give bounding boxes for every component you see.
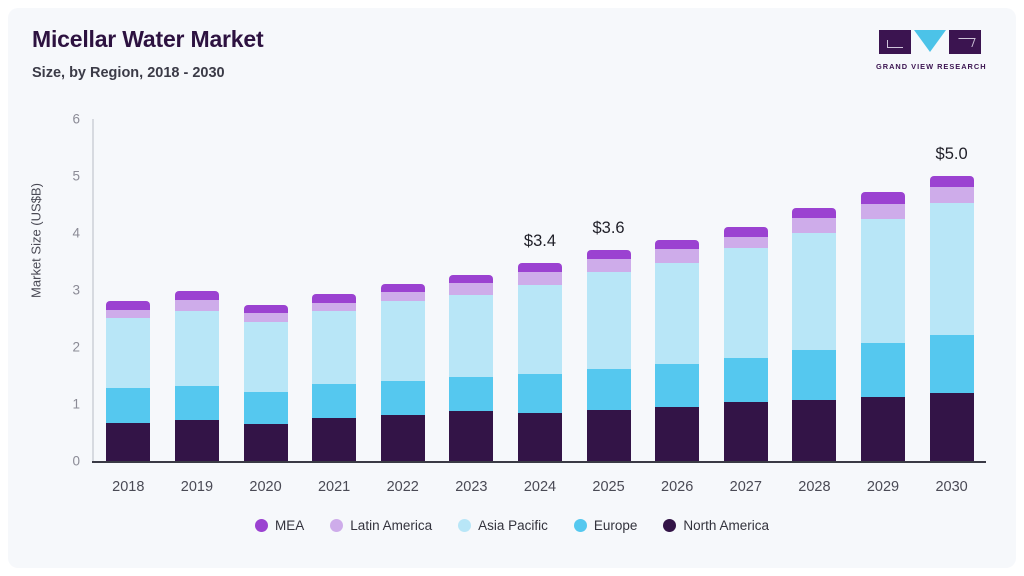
bar-segment-asia-pacific-2030[interactable] xyxy=(930,203,974,335)
y-axis-label: Market Size (US$B) xyxy=(29,91,44,391)
bar-segment-latin-america-2030[interactable] xyxy=(930,187,974,203)
bar-segment-asia-pacific-2029[interactable] xyxy=(861,219,905,343)
x-axis-tick-2018: 2018 xyxy=(112,479,144,495)
bar-segment-mea-2018[interactable] xyxy=(106,301,150,310)
chart-legend: MEALatin AmericaAsia PacificEuropeNorth … xyxy=(8,518,1016,533)
bar-segment-latin-america-2025[interactable] xyxy=(587,259,631,272)
legend-item-north-america[interactable]: North America xyxy=(663,518,769,533)
bar-segment-asia-pacific-2018[interactable] xyxy=(106,318,150,388)
bar-segment-mea-2024[interactable] xyxy=(518,263,562,272)
legend-item-asia-pacific[interactable]: Asia Pacific xyxy=(458,518,548,533)
bar-segment-latin-america-2021[interactable] xyxy=(312,303,356,311)
bar-segment-latin-america-2023[interactable] xyxy=(449,283,493,295)
bar-segment-north-america-2027[interactable] xyxy=(724,402,768,461)
bar-segment-latin-america-2020[interactable] xyxy=(244,313,288,322)
bar-segment-europe-2026[interactable] xyxy=(655,364,699,407)
stacked-bar-2018[interactable] xyxy=(106,301,150,461)
bar-segment-north-america-2028[interactable] xyxy=(792,400,836,461)
bar-segment-north-america-2020[interactable] xyxy=(244,424,288,461)
bar-segment-mea-2025[interactable] xyxy=(587,250,631,259)
bar-segment-mea-2023[interactable] xyxy=(449,275,493,283)
bar-segment-north-america-2019[interactable] xyxy=(175,420,219,461)
x-axis-tick-2024: 2024 xyxy=(524,479,556,495)
bar-segment-asia-pacific-2026[interactable] xyxy=(655,263,699,364)
bar-segment-asia-pacific-2021[interactable] xyxy=(312,311,356,384)
bar-slot-2024[interactable]: $3.42024 xyxy=(506,119,575,461)
y-axis-tick-0: 0 xyxy=(56,454,80,469)
legend-swatch-icon xyxy=(574,519,587,532)
bar-segment-europe-2029[interactable] xyxy=(861,343,905,397)
bar-segment-latin-america-2018[interactable] xyxy=(106,310,150,318)
x-axis-tick-2023: 2023 xyxy=(455,479,487,495)
bar-segment-mea-2027[interactable] xyxy=(724,227,768,237)
x-axis-line xyxy=(92,461,986,463)
bar-segment-europe-2030[interactable] xyxy=(930,335,974,393)
bar-segment-europe-2018[interactable] xyxy=(106,388,150,423)
chart-plot-area: Market Size (US$B) 6543210 2018201920202… xyxy=(8,8,1016,568)
bar-segment-asia-pacific-2022[interactable] xyxy=(381,301,425,381)
bar-segment-latin-america-2019[interactable] xyxy=(175,300,219,311)
legend-label: MEA xyxy=(275,518,304,533)
bar-segment-north-america-2018[interactable] xyxy=(106,423,150,461)
bar-segment-north-america-2029[interactable] xyxy=(861,397,905,461)
bar-segment-north-america-2023[interactable] xyxy=(449,411,493,461)
y-axis-tick-3: 3 xyxy=(56,283,80,298)
bar-segment-europe-2027[interactable] xyxy=(724,358,768,402)
legend-swatch-icon xyxy=(255,519,268,532)
legend-item-mea[interactable]: MEA xyxy=(255,518,304,533)
bar-slot-2029[interactable]: 2029 xyxy=(849,119,918,461)
y-axis-tick-1: 1 xyxy=(56,397,80,412)
stacked-bar-2026[interactable] xyxy=(655,240,699,461)
y-axis-tick-5: 5 xyxy=(56,169,80,184)
x-axis-tick-2027: 2027 xyxy=(730,479,762,495)
stacked-bar-2027[interactable] xyxy=(724,227,768,461)
x-axis-tick-2019: 2019 xyxy=(181,479,213,495)
screenshot-root: Micellar Water Market Size, by Region, 2… xyxy=(0,0,1024,576)
bar-segment-mea-2029[interactable] xyxy=(861,192,905,204)
bar-slot-2026[interactable]: 2026 xyxy=(643,119,712,461)
legend-label: Europe xyxy=(594,518,638,533)
stacked-bar-2022[interactable] xyxy=(381,284,425,461)
bar-segment-north-america-2025[interactable] xyxy=(587,410,631,461)
x-axis-tick-2026: 2026 xyxy=(661,479,693,495)
stacked-bar-2025[interactable] xyxy=(587,250,631,461)
bar-segment-europe-2020[interactable] xyxy=(244,392,288,424)
bar-segment-latin-america-2022[interactable] xyxy=(381,292,425,301)
bar-value-label-2024: $3.4 xyxy=(524,232,556,251)
bar-segment-europe-2028[interactable] xyxy=(792,350,836,400)
bar-segment-north-america-2021[interactable] xyxy=(312,418,356,461)
x-axis-tick-2025: 2025 xyxy=(592,479,624,495)
stacked-bar-2023[interactable] xyxy=(449,275,493,461)
bar-segment-europe-2025[interactable] xyxy=(587,369,631,410)
bar-segment-europe-2024[interactable] xyxy=(518,374,562,413)
bar-segment-north-america-2024[interactable] xyxy=(518,413,562,461)
stacked-bar-2020[interactable] xyxy=(244,305,288,461)
x-axis-tick-2020: 2020 xyxy=(249,479,281,495)
stacked-bar-2021[interactable] xyxy=(312,294,356,461)
bar-segment-mea-2030[interactable] xyxy=(930,176,974,187)
stacked-bar-2029[interactable] xyxy=(861,192,905,461)
bar-segment-asia-pacific-2027[interactable] xyxy=(724,248,768,358)
bar-segment-asia-pacific-2020[interactable] xyxy=(244,322,288,392)
stacked-bar-2019[interactable] xyxy=(175,291,219,461)
bar-slot-2022[interactable]: 2022 xyxy=(368,119,437,461)
bar-segment-asia-pacific-2028[interactable] xyxy=(792,233,836,350)
bar-slot-2019[interactable]: 2019 xyxy=(163,119,232,461)
bar-segment-latin-america-2024[interactable] xyxy=(518,272,562,285)
legend-swatch-icon xyxy=(330,519,343,532)
bar-slot-2020[interactable]: 2020 xyxy=(231,119,300,461)
x-axis-tick-2021: 2021 xyxy=(318,479,350,495)
bar-value-label-2025: $3.6 xyxy=(593,219,625,238)
legend-label: Latin America xyxy=(350,518,432,533)
bar-segment-asia-pacific-2024[interactable] xyxy=(518,285,562,374)
bar-segment-europe-2021[interactable] xyxy=(312,384,356,418)
bar-slot-2021[interactable]: 2021 xyxy=(300,119,369,461)
bar-segment-north-america-2026[interactable] xyxy=(655,407,699,461)
bar-value-label-2030: $5.0 xyxy=(936,145,968,164)
bar-segment-latin-america-2029[interactable] xyxy=(861,204,905,219)
bar-group: 201820192020202120222023$3.42024$3.62025… xyxy=(94,119,986,461)
stacked-bar-2024[interactable] xyxy=(518,263,562,461)
legend-item-europe[interactable]: Europe xyxy=(574,518,638,533)
stacked-bar-2028[interactable] xyxy=(792,208,836,461)
bar-segment-mea-2026[interactable] xyxy=(655,240,699,249)
bar-slot-2023[interactable]: 2023 xyxy=(437,119,506,461)
bar-segment-north-america-2022[interactable] xyxy=(381,415,425,461)
bar-segment-europe-2022[interactable] xyxy=(381,381,425,415)
bar-segment-asia-pacific-2023[interactable] xyxy=(449,295,493,377)
bar-segment-mea-2028[interactable] xyxy=(792,208,836,218)
x-axis-tick-2022: 2022 xyxy=(387,479,419,495)
legend-label: North America xyxy=(683,518,769,533)
y-axis-tick-2: 2 xyxy=(56,340,80,355)
bar-segment-europe-2019[interactable] xyxy=(175,386,219,420)
bar-segment-asia-pacific-2019[interactable] xyxy=(175,311,219,386)
stacked-bar-2030[interactable] xyxy=(930,176,974,461)
y-axis-tick-6: 6 xyxy=(56,112,80,127)
legend-swatch-icon xyxy=(458,519,471,532)
bar-segment-latin-america-2028[interactable] xyxy=(792,218,836,233)
bar-segment-europe-2023[interactable] xyxy=(449,377,493,411)
legend-item-latin-america[interactable]: Latin America xyxy=(330,518,432,533)
chart-card: Micellar Water Market Size, by Region, 2… xyxy=(8,8,1016,568)
bar-slot-2030[interactable]: $5.02030 xyxy=(917,119,986,461)
bar-segment-mea-2019[interactable] xyxy=(175,291,219,300)
bar-slot-2025[interactable]: $3.62025 xyxy=(574,119,643,461)
legend-label: Asia Pacific xyxy=(478,518,548,533)
legend-swatch-icon xyxy=(663,519,676,532)
y-axis-tick-4: 4 xyxy=(56,226,80,241)
bar-slot-2027[interactable]: 2027 xyxy=(711,119,780,461)
bar-segment-mea-2022[interactable] xyxy=(381,284,425,292)
x-axis-tick-2030: 2030 xyxy=(935,479,967,495)
bar-segment-mea-2021[interactable] xyxy=(312,294,356,303)
bar-slot-2018[interactable]: 2018 xyxy=(94,119,163,461)
bar-segment-north-america-2030[interactable] xyxy=(930,393,974,461)
bar-segment-mea-2020[interactable] xyxy=(244,305,288,313)
x-axis-tick-2028: 2028 xyxy=(798,479,830,495)
x-axis-tick-2029: 2029 xyxy=(867,479,899,495)
bar-segment-latin-america-2026[interactable] xyxy=(655,249,699,263)
bar-segment-asia-pacific-2025[interactable] xyxy=(587,272,631,369)
bar-segment-latin-america-2027[interactable] xyxy=(724,237,768,248)
bar-slot-2028[interactable]: 2028 xyxy=(780,119,849,461)
